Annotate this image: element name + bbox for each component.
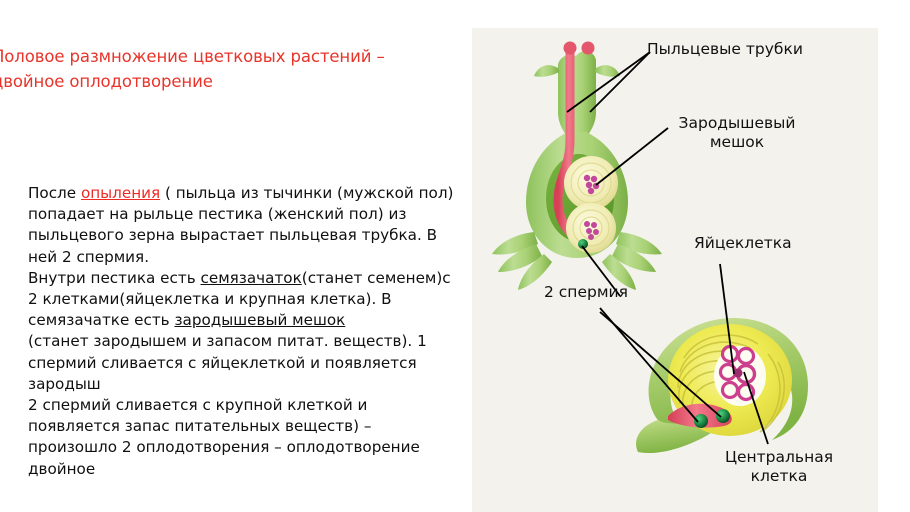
- embryo-sac-illustration: [636, 318, 808, 453]
- sperm-cell-2: [716, 409, 730, 423]
- label-two-sperm: 2 спермия: [544, 283, 628, 302]
- text-inside-pistil: Внутри пестика есть: [28, 269, 201, 287]
- paragraph-second-fertilization: 2 спермий сливается с крупной клеткой и …: [28, 395, 458, 480]
- leader-pollen-tube-2: [590, 52, 650, 112]
- page-title: Половое размножение цветковых растений –…: [0, 44, 462, 94]
- paragraph-ovule: Внутри пестика есть семязачаток(станет с…: [28, 268, 458, 332]
- paragraph-first-fertilization: (станет зародышем и запасом питат. вещес…: [28, 331, 458, 395]
- pollen-grain-left: [564, 42, 577, 55]
- label-embryo-sac: Зародышевый мешок: [662, 114, 812, 152]
- ovule-upper: [564, 156, 618, 210]
- term-semyazachatok: семязачаток: [201, 269, 302, 287]
- pistil-illustration: [492, 42, 662, 291]
- stigma-lobe-left: [534, 65, 559, 77]
- link-opyleniya[interactable]: опыления: [81, 184, 160, 202]
- pollen-grain-right: [582, 42, 595, 55]
- illustration-panel: Пыльцевые трубки Зародышевый мешок Яйцек…: [472, 28, 878, 512]
- ovule-lower: [566, 203, 616, 253]
- term-zarodyshevyy-meshok: зародышевый мешок: [174, 311, 345, 329]
- label-egg-cell: Яйцеклетка: [694, 234, 792, 253]
- body-text-block: После опыления ( пыльца из тычинки (мужс…: [28, 183, 458, 480]
- label-pollen-tubes: Пыльцевые трубки: [647, 40, 803, 59]
- paragraph-pollination: После опыления ( пыльца из тычинки (мужс…: [28, 183, 458, 268]
- label-central-cell: Центральная клетка: [704, 448, 854, 486]
- egg-cell-nucleus: [734, 369, 743, 378]
- text-after: После: [28, 184, 81, 202]
- stigma-lobe-right: [595, 65, 620, 77]
- fertilization-diagram: [472, 28, 878, 512]
